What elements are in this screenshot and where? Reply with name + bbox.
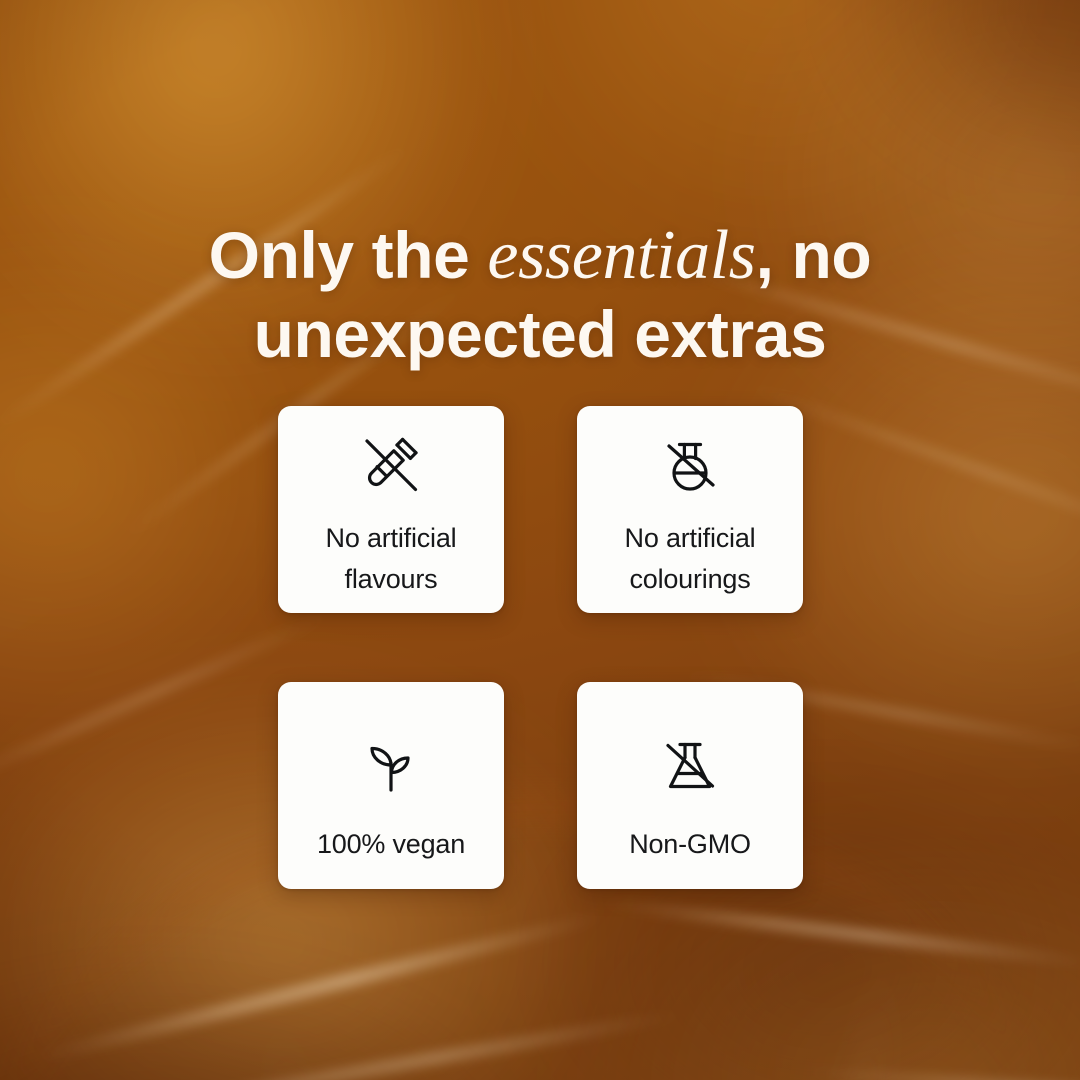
benefit-card-label: 100% vegan (317, 824, 465, 865)
benefit-card-label: Non-GMO (629, 824, 751, 865)
headline-part-1: Only the (209, 218, 488, 292)
label-line: No artificial (326, 518, 457, 559)
sprout-icon (358, 732, 424, 798)
conical-flask-crossed-out-icon (657, 732, 723, 798)
benefit-card-row: No artificial flavours (278, 406, 803, 613)
promo-graphic: Only the essentials, no unexpected extra… (0, 0, 1080, 1080)
page-title: Only the essentials, no unexpected extra… (0, 216, 1080, 373)
benefit-card-label: No artificial colourings (625, 518, 756, 600)
benefit-card-label: No artificial flavours (326, 518, 457, 600)
label-line: flavours (326, 559, 457, 600)
benefit-card-grid: No artificial flavours (278, 406, 803, 889)
label-line: colourings (625, 559, 756, 600)
label-line: Non-GMO (629, 824, 751, 865)
label-line: No artificial (625, 518, 756, 559)
label-line: 100% vegan (317, 824, 465, 865)
benefit-card-no-artificial-flavours[interactable]: No artificial flavours (278, 406, 504, 613)
headline-emphasis: essentials (487, 217, 755, 294)
benefit-card-vegan[interactable]: 100% vegan (278, 682, 504, 889)
benefit-card-non-gmo[interactable]: Non-GMO (577, 682, 803, 889)
benefit-card-no-artificial-colourings[interactable]: No artificial colourings (577, 406, 803, 613)
test-tube-crossed-out-icon (358, 432, 424, 498)
round-flask-crossed-out-icon (657, 432, 723, 498)
benefit-card-row: 100% vegan (278, 682, 803, 889)
